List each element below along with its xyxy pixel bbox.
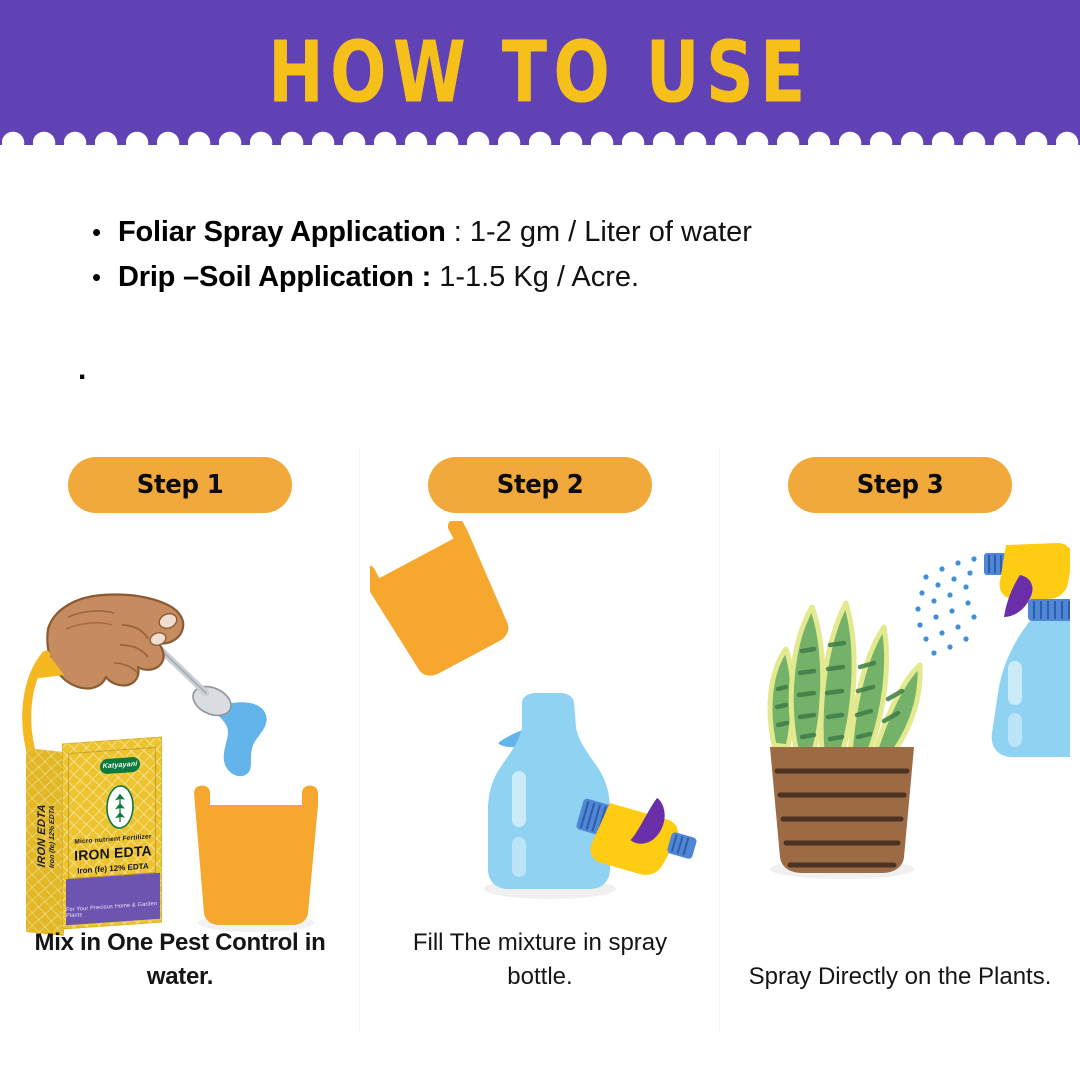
step-badge-label: Step 1 <box>137 470 224 500</box>
bucket-icon <box>180 771 340 941</box>
step-badge-3[interactable]: Step 3 <box>788 457 1012 513</box>
list-item: • Foliar Spray Application : 1-2 gm / Li… <box>92 210 992 254</box>
product-side-name: IRON EDTA <box>36 783 48 888</box>
step-column-2: Step 2 <box>360 440 720 1040</box>
tilted-bucket-icon <box>370 521 520 684</box>
dosage-label: Drip –Soil Application : <box>118 261 431 293</box>
dosage-value: 1-1.5 Kg / Acre. <box>431 261 639 293</box>
step-badge-2[interactable]: Step 2 <box>428 457 652 513</box>
list-item: • Drip –Soil Application : 1-1.5 Kg / Ac… <box>92 255 992 299</box>
product-box-text: Micro nutrient Fertilizer IRON EDTA Iron… <box>68 833 158 876</box>
bullet-icon: • <box>92 255 118 299</box>
product-tagline: For Your Precious Home & Garden Plants <box>66 901 160 920</box>
product-box-side-text: IRON EDTA Iron (fe) 12% EDTA <box>36 783 56 889</box>
spray-bottle-icon <box>984 543 1070 757</box>
product-box-side: IRON EDTA Iron (fe) 12% EDTA <box>26 748 64 936</box>
step-column-3: Step 3 <box>720 440 1080 1040</box>
dosage-label: Foliar Spray Application <box>118 216 446 248</box>
stray-period: . <box>78 355 86 385</box>
product-box: IRON EDTA Iron (fe) 12% EDTA Katyayani <box>24 736 164 936</box>
brand-name: Katyayani <box>103 761 138 770</box>
wheat-leaf-icon <box>100 783 140 832</box>
step-badge-1[interactable]: Step 1 <box>68 457 292 513</box>
steps-row: Step 1 <box>0 440 1080 1040</box>
step-column-1: Step 1 <box>0 440 360 1040</box>
step-1-illustration: IRON EDTA Iron (fe) 12% EDTA Katyayani <box>10 521 350 921</box>
header-band: HOW TO USE <box>0 0 1080 145</box>
mist-spray <box>915 556 976 655</box>
step-2-illustration <box>370 521 710 921</box>
snake-plant-icon <box>770 603 920 879</box>
dosage-value: : 1-2 gm / Liter of water <box>446 216 752 248</box>
step-caption-2: Fill The mixture in spray bottle. <box>360 926 720 994</box>
spray-bottle <box>488 693 610 889</box>
product-side-spec: Iron (fe) 12% EDTA <box>49 784 56 889</box>
product-box-band: For Your Precious Home & Garden Plants <box>66 873 160 926</box>
scallop-fill <box>0 145 1080 167</box>
page-title: HOW TO USE <box>43 26 1037 118</box>
dosage-list: • Foliar Spray Application : 1-2 gm / Li… <box>92 210 992 300</box>
step-caption-1: Mix in One Pest Control in water. <box>0 926 360 994</box>
step-badge-label: Step 2 <box>497 470 584 500</box>
step-3-illustration <box>730 521 1070 921</box>
infographic-page: HOW TO USE • Foliar Spray Application : … <box>0 0 1080 1080</box>
spraying-plant-graphic <box>730 521 1070 921</box>
step-caption-3: Spray Directly on the Plants. <box>720 960 1080 994</box>
bullet-icon: • <box>92 210 118 254</box>
step-badge-label: Step 3 <box>857 470 944 500</box>
brand-logo: Katyayani <box>100 757 140 775</box>
pouring-graphic <box>370 521 710 921</box>
